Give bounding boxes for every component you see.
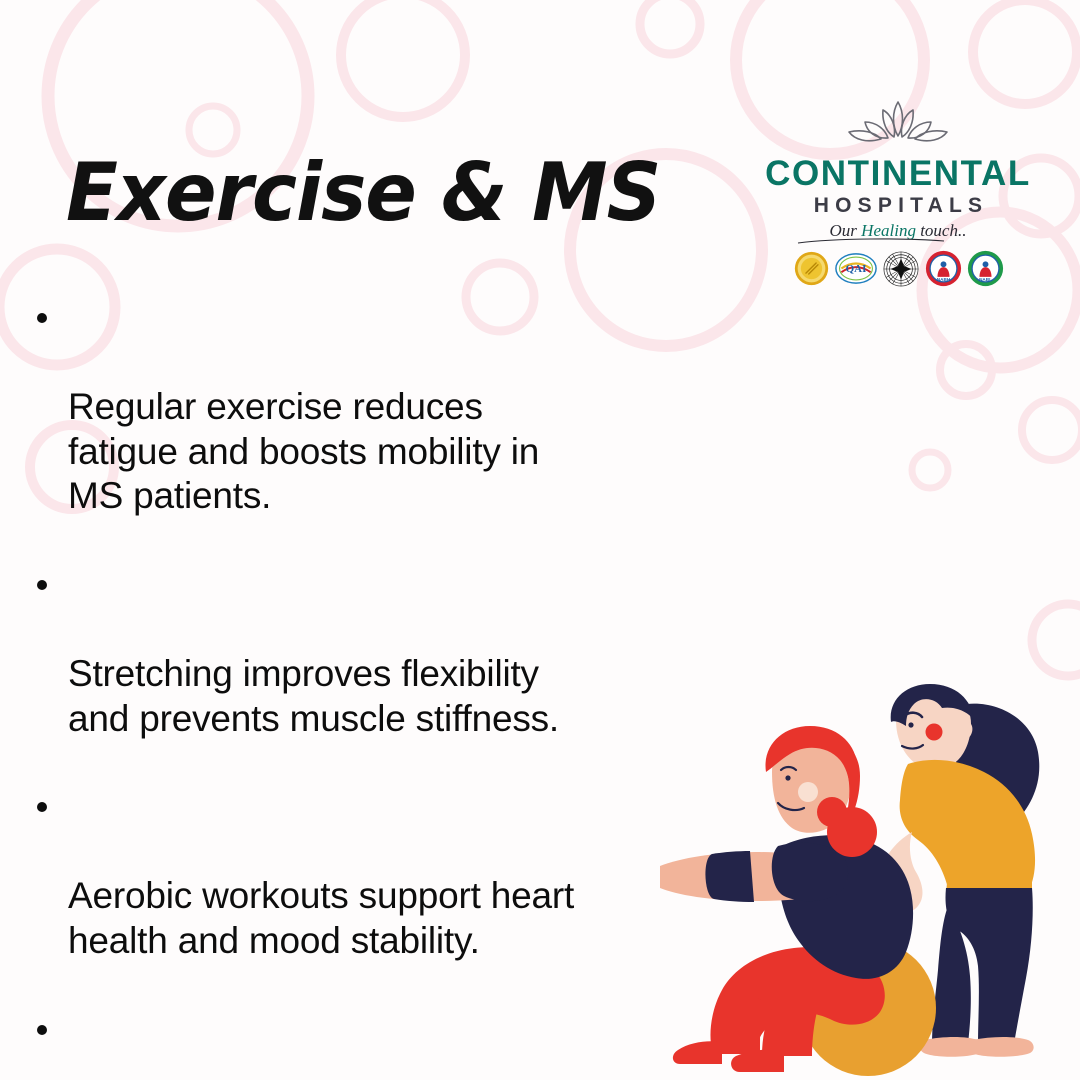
nabl-accreditation-badge: NABL — [967, 250, 1004, 287]
list-item-text: Stretching improves flexibility and prev… — [68, 653, 559, 739]
patient-lower-leg-front — [762, 1005, 818, 1056]
brand-name: CONTINENTAL — [748, 156, 1048, 192]
bullet-dot-icon — [37, 580, 47, 590]
key-points-list: Regular exercise reduces fatigue and boo… — [32, 296, 732, 1080]
brand-logo: CONTINENTAL HOSPITALS Our Healing touch.… — [748, 96, 1048, 288]
patient-lower-leg-back — [717, 994, 763, 1054]
poster-canvas: Exercise & MS CONTINENTAL HOSPITALS Our … — [0, 0, 1080, 1080]
therapist-eye — [908, 722, 913, 727]
therapist-foot-back — [968, 1037, 1034, 1057]
starburst-accreditation-badge — [882, 250, 920, 288]
list-item: Stretching improves flexibility and prev… — [32, 563, 732, 741]
list-item: Balance training lowers fall risk and en… — [32, 1008, 732, 1080]
page-title: Exercise & MS — [66, 152, 660, 233]
gold-medal-badge — [793, 250, 830, 287]
therapist-blush — [926, 724, 943, 741]
svg-text:NABL: NABL — [979, 277, 992, 282]
svg-text:QAI: QAI — [845, 263, 866, 275]
list-item: Regular exercise reduces fatigue and boo… — [32, 296, 732, 519]
brand-tagline: Our Healing touch.. — [748, 222, 1048, 241]
physiotherapy-exercise-ball-illustration — [660, 660, 1080, 1080]
svg-text:NABH: NABH — [936, 277, 950, 282]
patient-eye — [785, 775, 790, 780]
nabh-accreditation-badge: NABH — [925, 250, 962, 287]
brand-subtitle: HOSPITALS — [748, 194, 1048, 218]
lotus-icon — [843, 96, 953, 154]
patient-sleeve-band — [705, 851, 754, 902]
bullet-dot-icon — [37, 313, 47, 323]
list-item-text: Regular exercise reduces fatigue and boo… — [68, 386, 539, 516]
list-item-text: Aerobic workouts support heart health an… — [68, 875, 574, 961]
patient-blush — [798, 782, 818, 802]
bullet-dot-icon — [37, 802, 47, 812]
tagline-swash — [796, 238, 946, 245]
patient-hair-bun-small — [817, 797, 847, 827]
qai-accreditation-badge: QAI — [835, 250, 877, 287]
bullet-dot-icon — [37, 1025, 47, 1035]
accreditation-badges: QAI — [748, 250, 1048, 288]
patient-shoe-back — [673, 1041, 722, 1064]
list-item: Aerobic workouts support heart health an… — [32, 785, 732, 963]
